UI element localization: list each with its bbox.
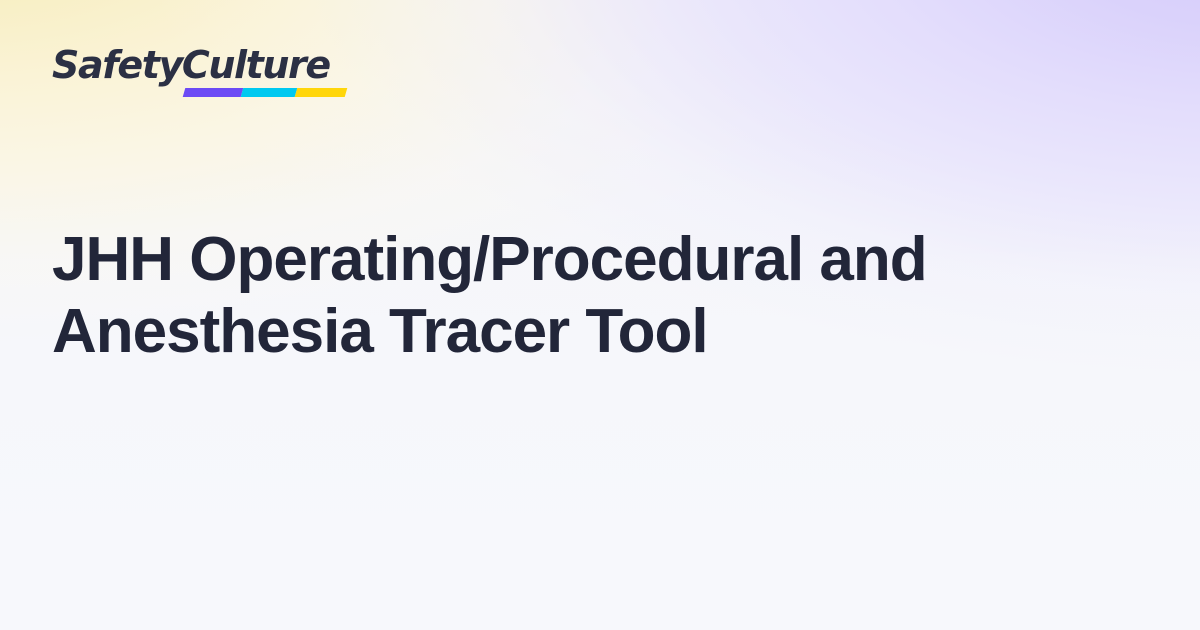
- logo-underline-segment-purple: [183, 88, 244, 97]
- logo-underline-segment-yellow: [294, 88, 347, 97]
- page-title: JHH Operating/Procedural and Anesthesia …: [52, 224, 1152, 368]
- logo-underline-segment-cyan: [241, 88, 297, 97]
- share-card: SafetyCulture JHH Operating/Procedural a…: [0, 0, 1200, 630]
- logo-wordmark-text: SafetyCulture: [52, 46, 342, 84]
- safetyculture-logo: SafetyCulture: [52, 46, 342, 108]
- logo-underline-accent: [183, 88, 348, 97]
